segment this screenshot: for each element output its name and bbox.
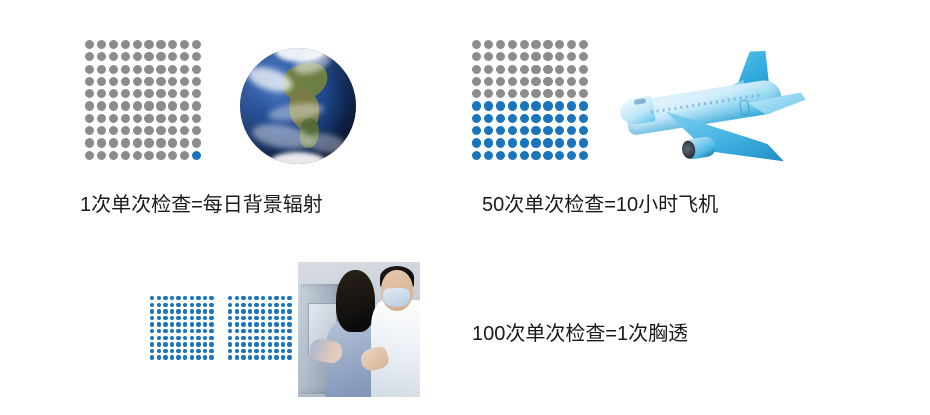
dot-active (579, 114, 588, 123)
dot-inactive (109, 114, 118, 123)
dot-inactive (109, 52, 118, 61)
dot-active (183, 296, 187, 300)
dot-active (183, 303, 187, 307)
dot-active (196, 316, 200, 320)
dot-inactive (472, 40, 481, 49)
dot-inactive (156, 65, 165, 74)
dot-active (209, 309, 213, 313)
dot-inactive (156, 101, 165, 110)
dot-active (254, 309, 258, 313)
dot-active (183, 329, 187, 333)
dot-active (555, 101, 564, 110)
dot-active (268, 303, 272, 307)
dot-inactive (121, 126, 130, 135)
dot-inactive (192, 65, 201, 74)
dot-inactive (168, 138, 177, 147)
dot-inactive (567, 89, 576, 98)
dot-active (176, 349, 180, 353)
dot-active (157, 322, 161, 326)
dot-active (170, 296, 174, 300)
dot-inactive (508, 89, 517, 98)
dot-active (190, 342, 194, 346)
dot-inactive (484, 40, 493, 49)
dot-active (196, 322, 200, 326)
dot-active (203, 329, 207, 333)
dot-active (241, 336, 245, 340)
dot-active (241, 309, 245, 313)
dot-inactive (133, 126, 142, 135)
dot-active (567, 101, 576, 110)
dot-inactive (180, 65, 189, 74)
dot-active (196, 336, 200, 340)
dot-inactive (156, 138, 165, 147)
dot-active (287, 349, 291, 353)
dot-active (190, 355, 194, 359)
dot-active (183, 336, 187, 340)
dot-inactive (543, 77, 552, 86)
dot-inactive (192, 101, 201, 110)
dot-active (508, 114, 517, 123)
dot-active (163, 329, 167, 333)
dot-active (170, 336, 174, 340)
dot-active (241, 303, 245, 307)
dot-inactive (496, 65, 505, 74)
dot-active (543, 138, 552, 147)
dot-inactive (144, 101, 153, 110)
dot-inactive (579, 40, 588, 49)
dot-inactive (472, 52, 481, 61)
dot-active (150, 303, 154, 307)
dot-inactive (180, 151, 189, 160)
dot-active (176, 309, 180, 313)
dot-active (183, 322, 187, 326)
dot-inactive (520, 52, 529, 61)
dot-active (209, 342, 213, 346)
airplane-engine-intake (681, 140, 697, 160)
dot-active (261, 342, 265, 346)
dot-active (555, 138, 564, 147)
dot-inactive (168, 151, 177, 160)
dot-active (157, 355, 161, 359)
dot-active (163, 355, 167, 359)
dot-inactive (180, 77, 189, 86)
dot-active (228, 316, 232, 320)
dot-inactive (156, 52, 165, 61)
dot-active (196, 303, 200, 307)
dot-active (567, 151, 576, 160)
dot-active (287, 355, 291, 359)
dot-inactive (133, 52, 142, 61)
dot-active (190, 329, 194, 333)
dot-active (496, 126, 505, 135)
dot-active (163, 349, 167, 353)
dot-inactive (85, 89, 94, 98)
dot-active (196, 296, 200, 300)
dot-inactive (520, 89, 529, 98)
dot-inactive (180, 101, 189, 110)
dot-active (261, 309, 265, 313)
dot-inactive (543, 52, 552, 61)
dot-active (150, 336, 154, 340)
dot-active (203, 355, 207, 359)
dot-inactive (555, 65, 564, 74)
dot-active (484, 114, 493, 123)
dot-active (150, 355, 154, 359)
dot-active (196, 309, 200, 313)
dot-inactive (121, 65, 130, 74)
dot-active (531, 114, 540, 123)
dot-inactive (144, 65, 153, 74)
dot-active (163, 336, 167, 340)
dot-active (203, 309, 207, 313)
dot-active (209, 322, 213, 326)
dot-active (254, 349, 258, 353)
dot-active (567, 138, 576, 147)
dot-active (508, 151, 517, 160)
dot-active (254, 336, 258, 340)
dot-inactive (109, 126, 118, 135)
dot-inactive (144, 114, 153, 123)
dot-active (190, 349, 194, 353)
dot-active (520, 126, 529, 135)
dot-inactive (192, 40, 201, 49)
dot-active (235, 349, 239, 353)
dot-active (261, 303, 265, 307)
dot-active (150, 329, 154, 333)
dot-active (261, 336, 265, 340)
dot-active (228, 309, 232, 313)
dot-active (261, 316, 265, 320)
dot-active (579, 101, 588, 110)
dot-active (274, 342, 278, 346)
dot-inactive (85, 77, 94, 86)
dot-active (281, 316, 285, 320)
dot-active (254, 355, 258, 359)
dot-active (579, 138, 588, 147)
dot-inactive (531, 52, 540, 61)
dot-active (170, 329, 174, 333)
dot-active (196, 349, 200, 353)
dot-inactive (180, 89, 189, 98)
dot-inactive (133, 114, 142, 123)
dot-inactive (168, 77, 177, 86)
dot-active (496, 151, 505, 160)
dot-inactive (508, 52, 517, 61)
dot-active (520, 101, 529, 110)
dot-active (163, 303, 167, 307)
dot-active (287, 322, 291, 326)
dot-active (183, 316, 187, 320)
dot-active (163, 309, 167, 313)
dot-inactive (579, 89, 588, 98)
dot-active (190, 303, 194, 307)
dot-inactive (192, 138, 201, 147)
dot-inactive (192, 126, 201, 135)
dot-active (183, 355, 187, 359)
earth-polar-ice (270, 152, 326, 164)
dot-active (170, 303, 174, 307)
dot-inactive (156, 114, 165, 123)
dot-active (543, 126, 552, 135)
dot-inactive (133, 101, 142, 110)
dot-inactive (133, 77, 142, 86)
dot-inactive (472, 77, 481, 86)
dot-active (496, 138, 505, 147)
dot-active (241, 329, 245, 333)
dot-active (287, 303, 291, 307)
dot-inactive (520, 40, 529, 49)
dot-active (150, 322, 154, 326)
dot-active (209, 303, 213, 307)
dot-active (274, 309, 278, 313)
dot-active (190, 322, 194, 326)
airplane-image (620, 50, 812, 170)
dot-active (209, 316, 213, 320)
dot-active (281, 329, 285, 333)
dot-active (281, 296, 285, 300)
dot-inactive (484, 65, 493, 74)
dot-active (274, 355, 278, 359)
dot-active (268, 342, 272, 346)
dot-inactive (97, 65, 106, 74)
dot-inactive (97, 138, 106, 147)
dot-inactive (121, 89, 130, 98)
dot-active (190, 309, 194, 313)
dot-active (176, 296, 180, 300)
dot-active (176, 355, 180, 359)
dot-active (531, 126, 540, 135)
dot-grid-flight (472, 40, 591, 163)
dot-active (496, 101, 505, 110)
dot-inactive (133, 138, 142, 147)
dot-inactive (144, 89, 153, 98)
dot-active (235, 309, 239, 313)
dot-inactive (180, 126, 189, 135)
dot-active (543, 101, 552, 110)
dot-active (150, 316, 154, 320)
dot-inactive (109, 151, 118, 160)
dot-inactive (180, 114, 189, 123)
dot-active (203, 342, 207, 346)
dot-inactive (496, 52, 505, 61)
dot-active (248, 349, 252, 353)
dot-active (163, 316, 167, 320)
dot-active (203, 296, 207, 300)
dot-inactive (555, 77, 564, 86)
dot-active (170, 349, 174, 353)
dot-active (209, 355, 213, 359)
dot-active (531, 151, 540, 160)
dot-inactive (168, 101, 177, 110)
dot-active (268, 349, 272, 353)
dot-active (228, 303, 232, 307)
dot-inactive (567, 77, 576, 86)
dot-inactive (484, 77, 493, 86)
dot-inactive (97, 114, 106, 123)
dot-active (248, 303, 252, 307)
dot-inactive (472, 65, 481, 74)
dot-active (254, 316, 258, 320)
dot-active (150, 342, 154, 346)
dot-inactive (133, 89, 142, 98)
dot-active (176, 342, 180, 346)
dot-active (484, 101, 493, 110)
dot-active (203, 316, 207, 320)
dot-active (261, 355, 265, 359)
dot-inactive (121, 138, 130, 147)
dot-active (261, 296, 265, 300)
dot-active (235, 329, 239, 333)
dot-active (192, 151, 201, 160)
dot-active (520, 151, 529, 160)
dot-active (157, 296, 161, 300)
dot-active (176, 336, 180, 340)
dot-active (281, 336, 285, 340)
dot-inactive (85, 151, 94, 160)
dot-inactive (496, 40, 505, 49)
dot-active (254, 296, 258, 300)
dot-inactive (168, 40, 177, 49)
dot-active (472, 101, 481, 110)
dot-active (248, 322, 252, 326)
dot-inactive (121, 101, 130, 110)
dot-inactive (508, 65, 517, 74)
dot-inactive (109, 89, 118, 98)
dot-inactive (97, 151, 106, 160)
dot-active (170, 322, 174, 326)
dot-active (235, 342, 239, 346)
dot-inactive (97, 52, 106, 61)
dot-inactive (579, 77, 588, 86)
dot-inactive (168, 52, 177, 61)
dot-active (157, 303, 161, 307)
dot-active (274, 349, 278, 353)
dot-active (228, 342, 232, 346)
dot-active (472, 114, 481, 123)
dot-active (157, 316, 161, 320)
dot-active (163, 342, 167, 346)
dot-active (235, 355, 239, 359)
airplane-engine (681, 135, 718, 160)
dot-active (248, 309, 252, 313)
dot-inactive (156, 89, 165, 98)
dot-inactive (156, 151, 165, 160)
dot-active (555, 151, 564, 160)
dot-active (281, 322, 285, 326)
dot-active (235, 296, 239, 300)
dot-active (235, 322, 239, 326)
dot-active (248, 342, 252, 346)
dot-active (496, 114, 505, 123)
dot-active (157, 329, 161, 333)
dot-active (274, 316, 278, 320)
dot-inactive (168, 89, 177, 98)
dot-active (163, 296, 167, 300)
dot-active (170, 309, 174, 313)
dot-inactive (121, 40, 130, 49)
dot-active (543, 114, 552, 123)
dot-active (472, 151, 481, 160)
dot-inactive (555, 89, 564, 98)
dot-inactive (180, 138, 189, 147)
dot-inactive (484, 89, 493, 98)
dot-active (579, 126, 588, 135)
dot-active (268, 316, 272, 320)
dot-active (248, 336, 252, 340)
dot-active (235, 316, 239, 320)
dot-active (281, 303, 285, 307)
dot-inactive (472, 89, 481, 98)
dot-active (274, 296, 278, 300)
dot-inactive (520, 77, 529, 86)
dot-inactive (109, 65, 118, 74)
dot-active (176, 316, 180, 320)
dot-active (241, 349, 245, 353)
dot-active (248, 296, 252, 300)
caption-flight: 50次单次检查=10小时飞机 (482, 193, 718, 217)
dot-active (508, 126, 517, 135)
earth-cloud (306, 131, 348, 155)
dot-active (261, 329, 265, 333)
dot-active (484, 138, 493, 147)
dot-inactive (144, 138, 153, 147)
chest-xray-photo (298, 262, 420, 397)
dot-active (209, 349, 213, 353)
dot-active (235, 336, 239, 340)
dot-inactive (109, 40, 118, 49)
dot-inactive (484, 52, 493, 61)
dot-active (157, 349, 161, 353)
dot-inactive (180, 40, 189, 49)
dot-active (248, 355, 252, 359)
dot-inactive (192, 52, 201, 61)
dot-inactive (121, 77, 130, 86)
dot-active (268, 309, 272, 313)
dot-inactive (121, 151, 130, 160)
dot-active (268, 296, 272, 300)
dot-active (555, 114, 564, 123)
dot-active (150, 349, 154, 353)
dot-active (157, 336, 161, 340)
dot-active (484, 126, 493, 135)
dot-inactive (567, 52, 576, 61)
earth-globe-image (240, 48, 356, 164)
dot-active (235, 303, 239, 307)
dot-inactive (144, 52, 153, 61)
dot-inactive (168, 126, 177, 135)
dot-active (254, 322, 258, 326)
dot-inactive (121, 114, 130, 123)
dot-inactive (496, 77, 505, 86)
dot-inactive (156, 126, 165, 135)
dot-active (209, 329, 213, 333)
dot-active (203, 322, 207, 326)
dot-inactive (97, 89, 106, 98)
dot-active (228, 329, 232, 333)
dot-grid-chest-xray-left (150, 296, 216, 362)
dot-active (228, 336, 232, 340)
dot-active (274, 303, 278, 307)
dot-inactive (109, 77, 118, 86)
dot-inactive (543, 40, 552, 49)
dot-active (190, 336, 194, 340)
dot-active (209, 296, 213, 300)
dot-inactive (97, 40, 106, 49)
dot-inactive (85, 114, 94, 123)
dot-inactive (579, 52, 588, 61)
caption-background-radiation: 1次单次检查=每日背景辐射 (80, 193, 323, 217)
dot-active (170, 316, 174, 320)
